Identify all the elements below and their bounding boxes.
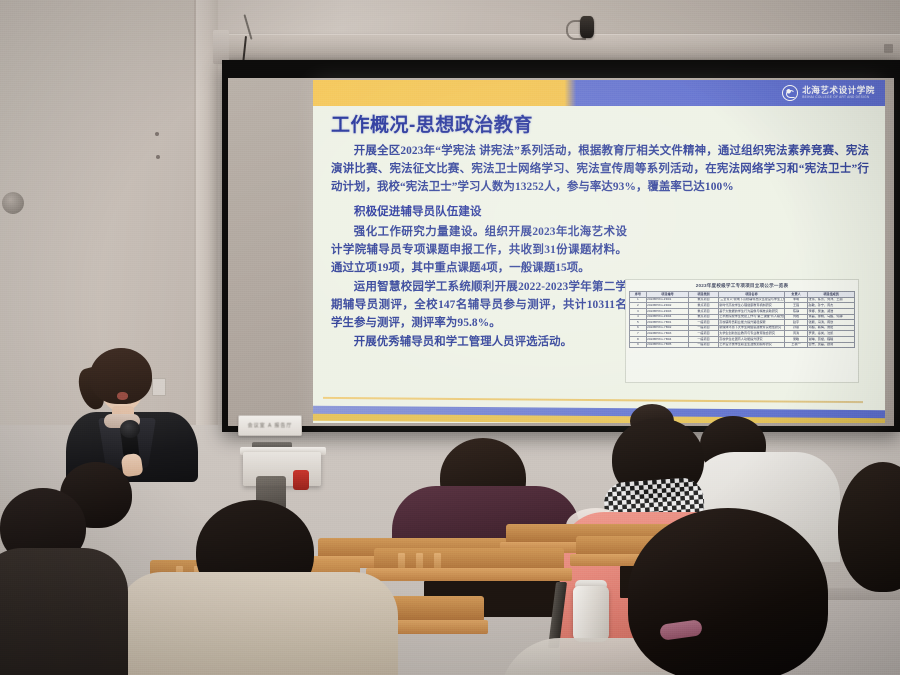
audience-member-body xyxy=(0,548,128,675)
wall-vent-icon xyxy=(2,192,24,214)
table-caption: 2023年度校级学工专项项目立项公示一览表 xyxy=(629,283,855,289)
lecture-hall-photo: 北海艺术设计学院 BEIHAI COLLEGE OF ART AND DESIG… xyxy=(0,0,900,675)
microphone-head xyxy=(120,420,140,438)
table-cell: 一般项目 xyxy=(689,342,719,348)
slide-title: 工作概况-思想政治教育 xyxy=(331,110,533,137)
wall-placard: 会议室 A 报告厅 xyxy=(238,415,302,436)
audience-member-head-foreground xyxy=(628,508,828,675)
school-logo: 北海艺术设计学院 BEIHAI COLLEGE OF ART AND DESIG… xyxy=(782,84,875,102)
wall-placard-text: 会议室 A 报告厅 xyxy=(248,422,293,429)
projector-screen-housing xyxy=(218,34,900,61)
slide-subheading: 积极促进辅导员队伍建设 xyxy=(331,203,869,221)
slide-paragraph: 强化工作研究力量建设。组织开展2023年北海艺术设计学院辅导员专项课题申报工作，… xyxy=(331,223,627,277)
screen-bracket xyxy=(884,44,893,53)
table-cell: 9 xyxy=(630,342,647,348)
logo-swirl-icon xyxy=(782,85,798,101)
slide-paragraph: 开展全区2023年“学宪法 讲宪法”系列活动，根据教育厅相关文件精神，通过组织宪… xyxy=(331,142,869,196)
audience-member-body xyxy=(118,572,398,675)
table-cell: 王楠一 xyxy=(784,342,807,348)
table-cell: 白雪、唐磊、顾南 xyxy=(808,342,855,348)
thermos-bottle xyxy=(573,586,609,642)
logo-name-en: BEIHAI COLLEGE OF ART AND DESIGN xyxy=(802,96,875,99)
table-cell: 2023BHXG-YB05 xyxy=(646,342,689,348)
slide-footer-accent-line xyxy=(323,397,863,403)
wall-fixture-dot xyxy=(156,155,160,159)
slide-header-bar: 北海艺术设计学院 BEIHAI COLLEGE OF ART AND DESIG… xyxy=(313,80,885,106)
presenter xyxy=(60,348,210,478)
logo-name-cn: 北海艺术设计学院 xyxy=(802,86,875,95)
wall-fixture-dot xyxy=(155,132,159,136)
table-cell: 艺术设计类学生职业生涯规划指导研究 xyxy=(718,342,784,348)
project-table: 序号项目编号项目类别项目名称负责人项目组成员 12023BHXG-ZD01重点项… xyxy=(629,291,855,348)
logo-text: 北海艺术设计学院 BEIHAI COLLEGE OF ART AND DESIG… xyxy=(802,86,875,99)
presenter-mouth xyxy=(117,392,128,400)
red-cup xyxy=(293,470,309,490)
desk-top xyxy=(366,568,572,581)
slide-paragraph: 运用智慧校园学工系统顺利开展2022-2023学年第二学期辅导员测评，全校147… xyxy=(331,278,627,332)
ceiling-camera-icon xyxy=(580,16,594,38)
table-row: 92023BHXG-YB05一般项目艺术设计类学生职业生涯规划指导研究王楠一白雪… xyxy=(630,342,855,348)
projector-screen-housing-cap xyxy=(213,30,229,64)
slide-embedded-table: 2023年度校级学工专项项目立项公示一览表 序号项目编号项目类别项目名称负责人项… xyxy=(625,279,859,383)
presentation-slide: 北海艺术设计学院 BEIHAI COLLEGE OF ART AND DESIG… xyxy=(313,80,885,423)
